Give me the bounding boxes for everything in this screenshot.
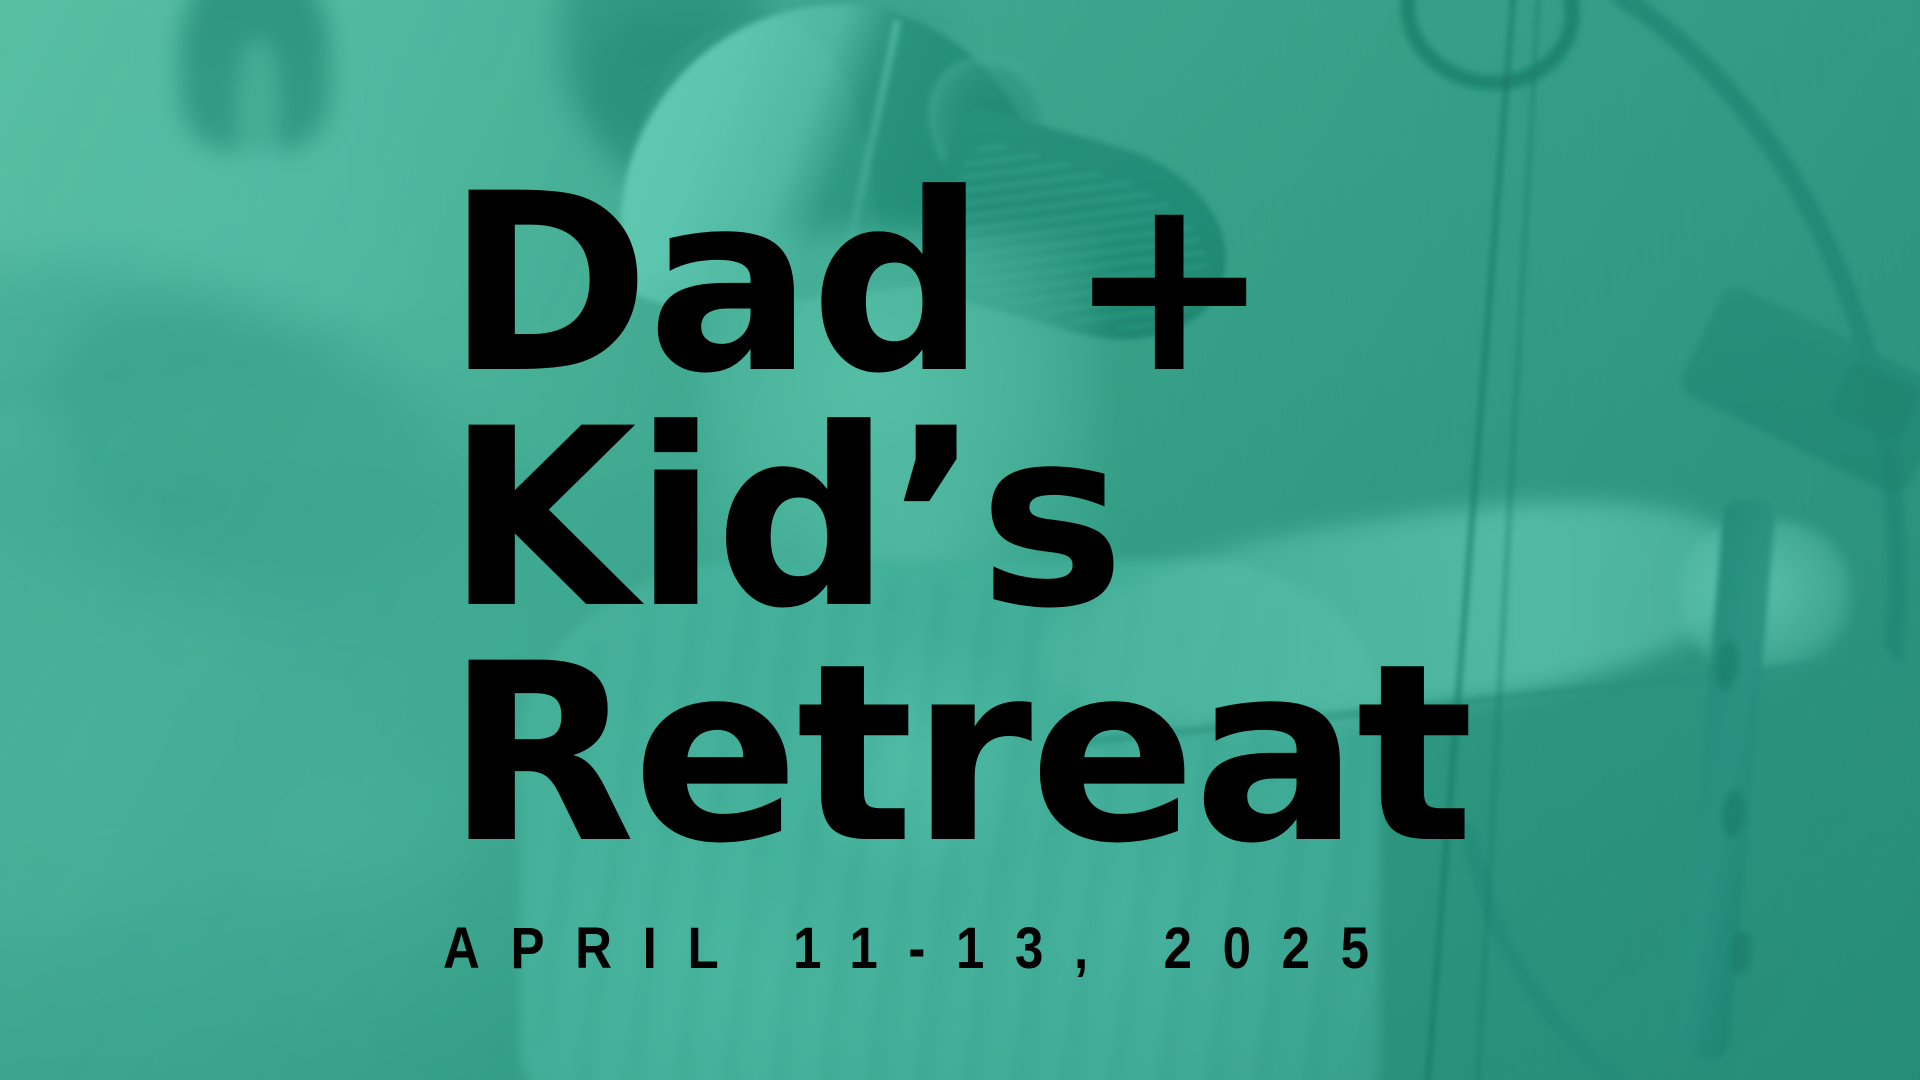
headline-line-1: Dad +	[446, 168, 1546, 403]
headline-block: Dad + Kid’s Retreat	[446, 168, 1546, 873]
headline-line-3: Retreat	[446, 638, 1546, 873]
event-title: Dad + Kid’s Retreat	[446, 168, 1546, 873]
event-poster: Dad + Kid’s Retreat APRIL 11-13, 2025	[0, 0, 1920, 1080]
headline-line-2: Kid’s	[446, 403, 1546, 638]
event-date: APRIL 11-13, 2025	[443, 920, 1400, 978]
